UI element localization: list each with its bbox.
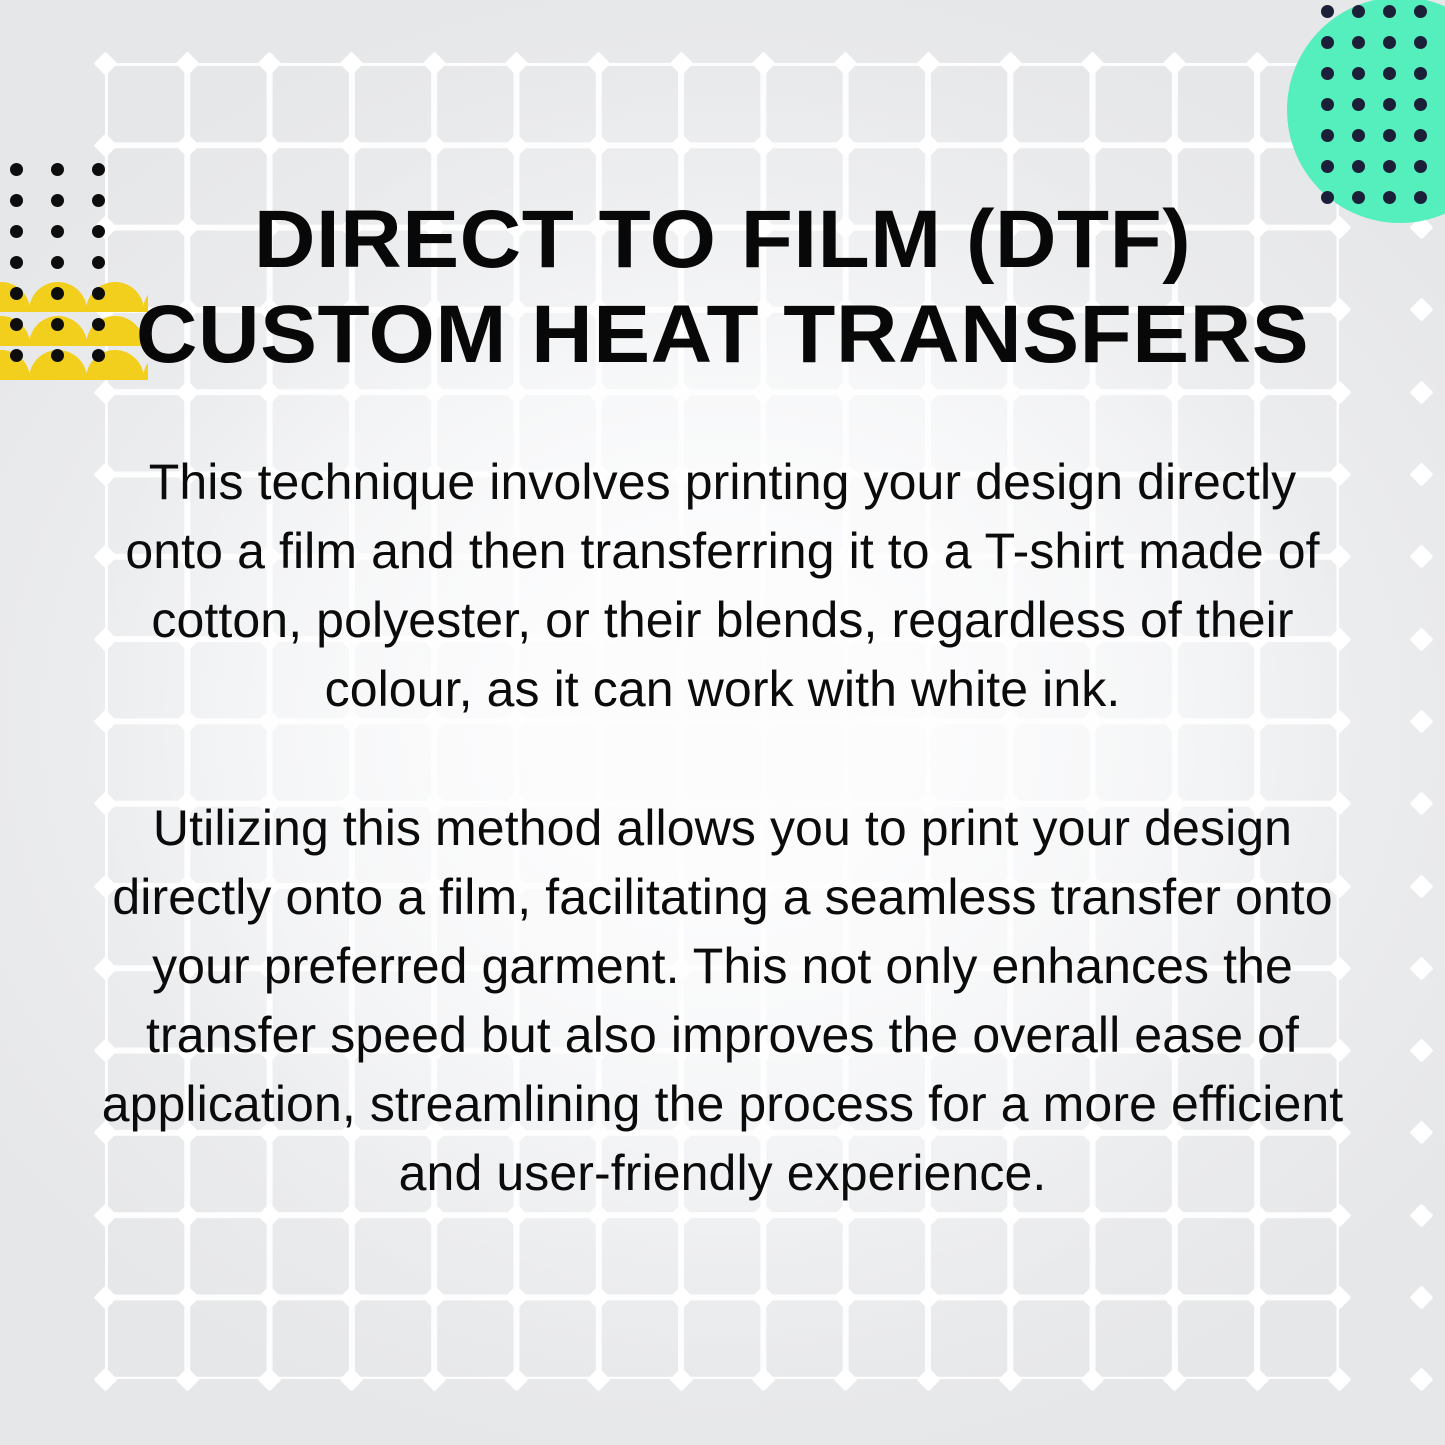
grid-joint-diamond [258, 380, 282, 404]
grid-joint-diamond [1163, 1285, 1187, 1309]
grid-joint-diamond [1245, 51, 1269, 75]
dot-grid-top-right [1321, 5, 1445, 201]
grid-joint-diamond [834, 380, 858, 404]
grid-joint-diamond [1245, 1285, 1269, 1309]
grid-joint-diamond [422, 380, 446, 404]
grid-joint-diamond [1410, 874, 1434, 898]
grid-joint-diamond [916, 380, 940, 404]
grid-joint-diamond [504, 380, 528, 404]
grid-joint-diamond [1410, 380, 1434, 404]
grid-joint-diamond [998, 133, 1022, 157]
grid-joint-diamond [1410, 1121, 1434, 1145]
grid-joint-diamond [1081, 1285, 1105, 1309]
grid-joint-diamond [1245, 380, 1269, 404]
grid-joint-diamond [340, 1285, 364, 1309]
grid-joint-diamond [751, 133, 775, 157]
body-copy: This technique involves printing your de… [96, 448, 1349, 1208]
grid-joint-diamond [1410, 709, 1434, 733]
grid-joint-diamond [504, 133, 528, 157]
paragraph-2: Utilizing this method allows you to prin… [96, 794, 1349, 1208]
grid-joint-diamond [1410, 627, 1434, 651]
grid-joint-diamond [587, 1285, 611, 1309]
paragraph-1: This technique involves printing your de… [96, 448, 1349, 724]
grid-joint-diamond [1245, 1368, 1269, 1392]
grid-joint-diamond [1163, 133, 1187, 157]
grid-joint-diamond [1245, 133, 1269, 157]
grid-joint-diamond [834, 51, 858, 75]
decorative-dot [1352, 36, 1365, 49]
page-title: DIRECT TO FILM (DTF) CUSTOM HEAT TRANSFE… [0, 192, 1445, 382]
grid-joint-diamond [1410, 792, 1434, 816]
decorative-dot [1321, 160, 1334, 173]
grid-joint-diamond [175, 380, 199, 404]
grid-joint-diamond [834, 1285, 858, 1309]
decorative-dot [1383, 160, 1396, 173]
decorative-dot [1321, 36, 1334, 49]
grid-joint-diamond [93, 51, 117, 75]
decorative-dot [1352, 67, 1365, 80]
decorative-dot [10, 163, 23, 176]
grid-joint-diamond [175, 1285, 199, 1309]
grid-joint-diamond [504, 1285, 528, 1309]
grid-joint-diamond [504, 1368, 528, 1392]
decorative-dot [1352, 160, 1365, 173]
grid-joint-diamond [258, 1285, 282, 1309]
grid-joint-diamond [422, 1285, 446, 1309]
decorative-dot [1383, 67, 1396, 80]
grid-joint-diamond [422, 133, 446, 157]
decorative-dot [1352, 98, 1365, 111]
decorative-dot [51, 163, 64, 176]
grid-joint-diamond [1410, 1368, 1434, 1392]
grid-joint-diamond [175, 1368, 199, 1392]
decorative-dot [1352, 129, 1365, 142]
grid-joint-diamond [998, 380, 1022, 404]
grid-joint-diamond [834, 133, 858, 157]
grid-joint-diamond [340, 133, 364, 157]
grid-joint-diamond [340, 51, 364, 75]
decorative-dot [1321, 67, 1334, 80]
grid-joint-diamond [175, 51, 199, 75]
grid-joint-diamond [1410, 545, 1434, 569]
grid-joint-diamond [916, 1285, 940, 1309]
grid-joint-diamond [1410, 956, 1434, 980]
grid-joint-diamond [258, 51, 282, 75]
decorative-dot [1321, 129, 1334, 142]
grid-joint-diamond [916, 51, 940, 75]
grid-joint-diamond [340, 1368, 364, 1392]
grid-joint-diamond [1081, 1368, 1105, 1392]
grid-joint-diamond [1410, 1039, 1434, 1063]
grid-joint-diamond [258, 133, 282, 157]
grid-joint-diamond [916, 133, 940, 157]
decorative-dot [92, 163, 105, 176]
grid-joint-diamond [1163, 51, 1187, 75]
grid-joint-diamond [669, 133, 693, 157]
decorative-dot [1383, 5, 1396, 18]
decorative-dot [1414, 67, 1427, 80]
grid-joint-diamond [751, 1285, 775, 1309]
grid-joint-diamond [1163, 1368, 1187, 1392]
decorative-dot [1414, 5, 1427, 18]
grid-joint-diamond [1327, 1285, 1351, 1309]
decorative-dot [1321, 98, 1334, 111]
grid-joint-diamond [422, 1368, 446, 1392]
decorative-dot [1383, 98, 1396, 111]
grid-joint-diamond [1081, 133, 1105, 157]
grid-joint-diamond [93, 1368, 117, 1392]
grid-joint-diamond [93, 133, 117, 157]
poster-canvas: DIRECT TO FILM (DTF) CUSTOM HEAT TRANSFE… [0, 0, 1445, 1445]
grid-joint-diamond [751, 1368, 775, 1392]
grid-joint-diamond [1327, 380, 1351, 404]
decorative-dot [1414, 129, 1427, 142]
decorative-dot [1383, 36, 1396, 49]
grid-joint-diamond [669, 380, 693, 404]
decorative-dot [1414, 98, 1427, 111]
decorative-dot [1383, 129, 1396, 142]
grid-joint-diamond [669, 1285, 693, 1309]
grid-joint-diamond [834, 1368, 858, 1392]
grid-joint-diamond [587, 1368, 611, 1392]
decorative-dot [1321, 5, 1334, 18]
grid-joint-diamond [1410, 1203, 1434, 1227]
grid-joint-diamond [1410, 1285, 1434, 1309]
grid-joint-diamond [1410, 462, 1434, 486]
grid-joint-diamond [93, 1285, 117, 1309]
grid-joint-diamond [258, 1368, 282, 1392]
grid-joint-diamond [1081, 51, 1105, 75]
grid-joint-diamond [998, 51, 1022, 75]
grid-joint-diamond [340, 380, 364, 404]
grid-joint-diamond [587, 380, 611, 404]
grid-joint-diamond [998, 1285, 1022, 1309]
grid-joint-diamond [1163, 380, 1187, 404]
grid-joint-diamond [669, 51, 693, 75]
grid-joint-diamond [1081, 380, 1105, 404]
grid-joint-diamond [998, 1368, 1022, 1392]
decorative-dot [1352, 5, 1365, 18]
grid-joint-diamond [587, 51, 611, 75]
grid-joint-diamond [751, 51, 775, 75]
grid-joint-diamond [916, 1368, 940, 1392]
decorative-dot [1414, 160, 1427, 173]
grid-joint-diamond [1327, 1368, 1351, 1392]
decorative-dot [1414, 36, 1427, 49]
page-title-line-1: DIRECT TO FILM (DTF) [0, 192, 1445, 287]
page-title-line-2: CUSTOM HEAT TRANSFERS [0, 287, 1445, 382]
grid-joint-diamond [751, 380, 775, 404]
grid-joint-diamond [175, 133, 199, 157]
grid-joint-diamond [422, 51, 446, 75]
grid-joint-diamond [504, 51, 528, 75]
grid-joint-diamond [587, 133, 611, 157]
grid-joint-diamond [669, 1368, 693, 1392]
